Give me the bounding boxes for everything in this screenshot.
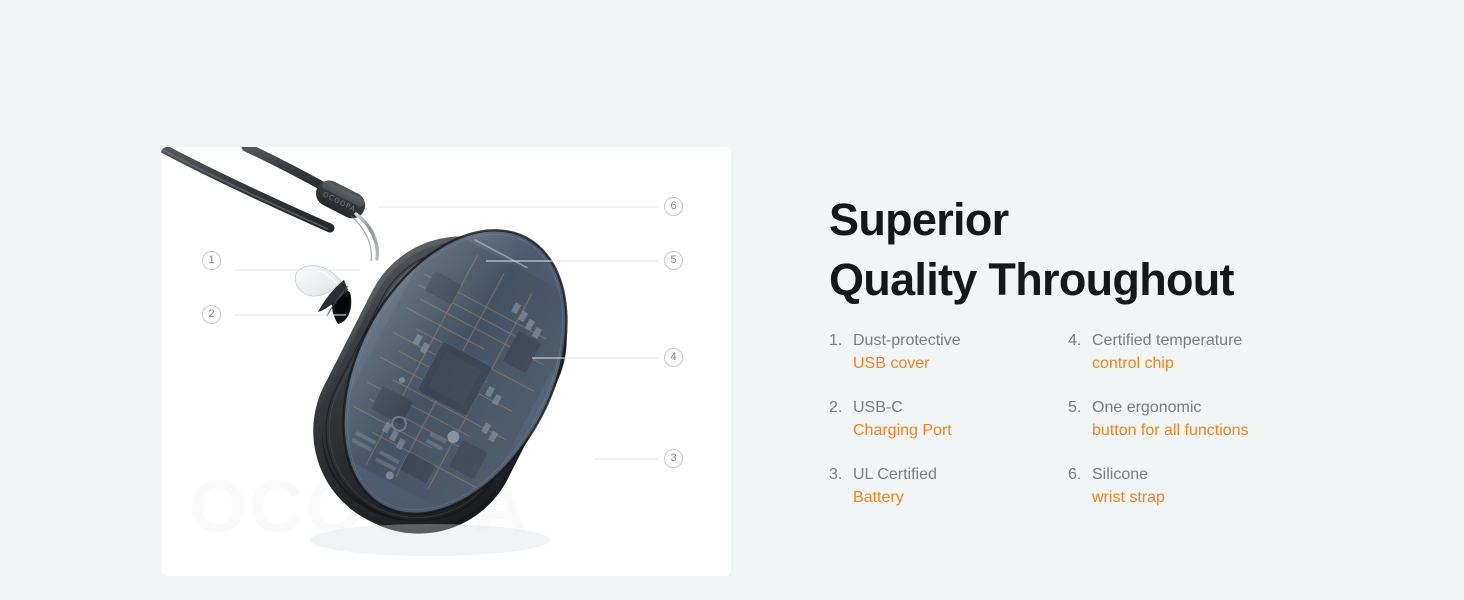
feature-text-panel: Superior Quality Throughout 1. Dust-prot… [800, 0, 1464, 600]
feature-label-line2: button for all functions [1092, 422, 1249, 439]
feature-column-right: 4. Certified temperature control chip 5.… [1068, 330, 1307, 509]
feature-number: 4. [1068, 330, 1092, 353]
product-image-panel: OCOOPA [0, 0, 800, 600]
callout-marker-4[interactable]: 4 [664, 348, 683, 367]
feature-column-left: 1. Dust-protective USB cover 2. USB-C Ch… [829, 330, 1068, 509]
feature-item-2: 2. USB-C Charging Port [829, 397, 1068, 442]
feature-item-6: 6. Silicone wrist strap [1068, 464, 1307, 509]
callout-marker-5[interactable]: 5 [664, 251, 683, 270]
feature-label-line1: Silicone [1092, 466, 1148, 483]
callout-marker-3[interactable]: 3 [664, 449, 683, 468]
feature-number: 6. [1068, 464, 1092, 487]
feature-number: 2. [829, 397, 853, 420]
feature-label-line1: Dust-protective [853, 332, 961, 349]
brand-watermark: OCOOPA [189, 470, 530, 544]
feature-label-line2: Battery [853, 489, 904, 506]
callout-marker-6[interactable]: 6 [664, 197, 683, 216]
feature-label-line1: One ergonomic [1092, 399, 1201, 416]
feature-label-line1: USB-C [853, 399, 903, 416]
headline-line-1: Superior [829, 190, 1234, 249]
feature-item-1: 1. Dust-protective USB cover [829, 330, 1068, 375]
feature-list: 1. Dust-protective USB cover 2. USB-C Ch… [829, 330, 1439, 509]
feature-item-5: 5. One ergonomic button for all function… [1068, 397, 1307, 442]
headline-line-2: Quality Throughout [829, 250, 1234, 309]
page-title: Superior Quality Throughout [829, 190, 1234, 309]
feature-label-line2: wrist strap [1092, 489, 1165, 506]
feature-number: 3. [829, 464, 853, 487]
feature-label-line1: Certified temperature [1092, 332, 1242, 349]
callout-marker-2[interactable]: 2 [202, 305, 221, 324]
feature-item-4: 4. Certified temperature control chip [1068, 330, 1307, 375]
feature-number: 1. [829, 330, 853, 353]
feature-item-3: 3. UL Certified Battery [829, 464, 1068, 509]
feature-label-line2: USB cover [853, 355, 929, 372]
product-image-card: OCOOPA [161, 147, 731, 576]
feature-label-line2: Charging Port [853, 422, 952, 439]
feature-label-line2: control chip [1092, 355, 1174, 372]
feature-number: 5. [1068, 397, 1092, 420]
callout-marker-1[interactable]: 1 [202, 251, 221, 270]
feature-label-line1: UL Certified [853, 466, 937, 483]
